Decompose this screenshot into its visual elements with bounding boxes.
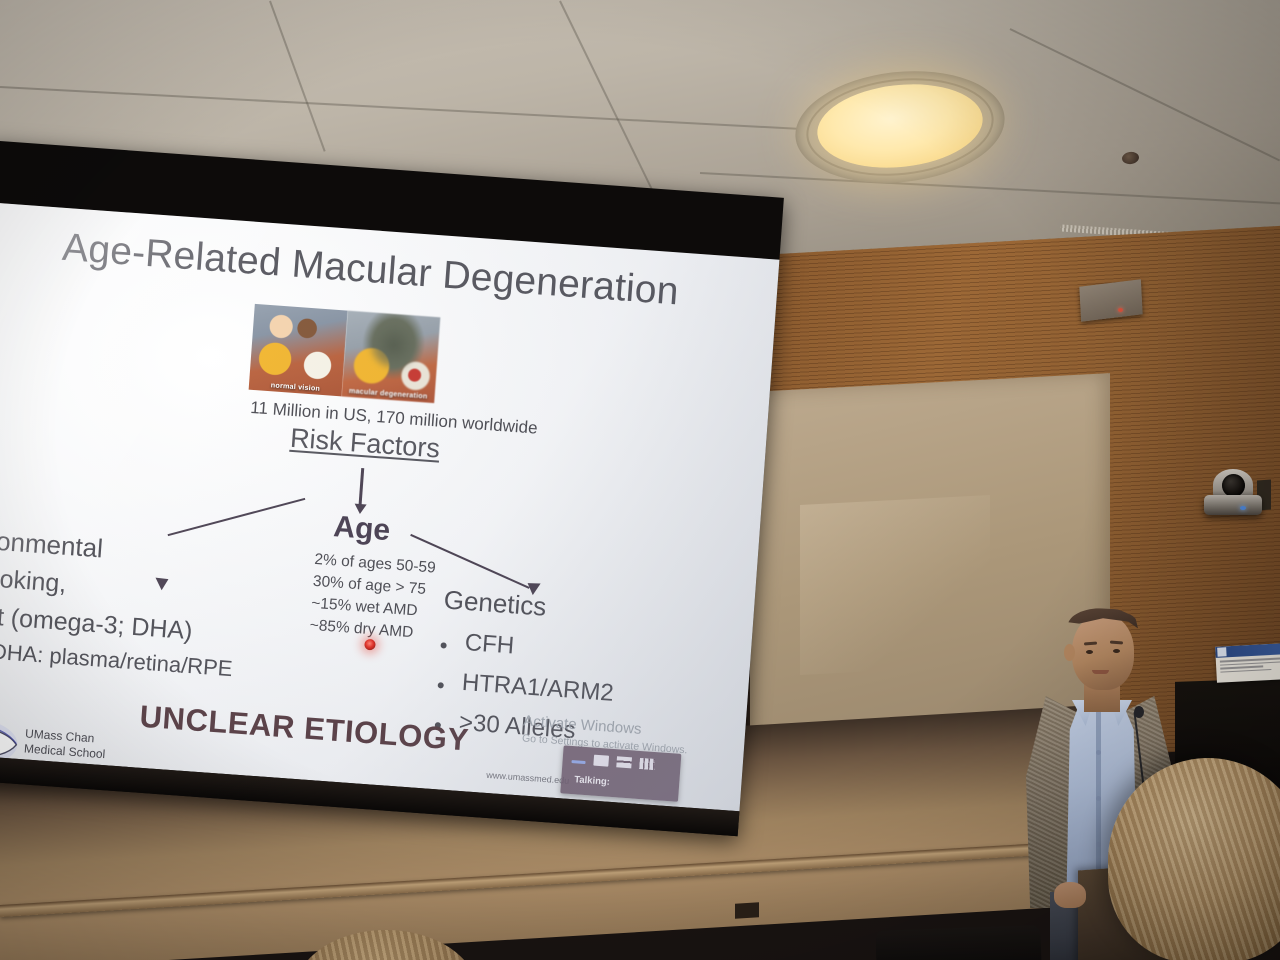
age-node-label: Age	[306, 508, 418, 550]
bullet-label: Diet (omega-3; DHA)	[0, 600, 193, 646]
down-arrow-icon	[358, 468, 363, 506]
presenter-hand	[1054, 882, 1086, 908]
sign-logo-icon	[1217, 647, 1226, 656]
ball-dot-icon	[408, 368, 422, 382]
camera-led-icon	[1240, 506, 1246, 510]
microphone-icon	[1134, 706, 1144, 718]
minimize-icon[interactable]	[571, 760, 585, 764]
camera-lens-icon	[1222, 474, 1245, 497]
bullet-icon	[440, 642, 446, 648]
macular-degeneration-caption: macular degeneration	[342, 385, 435, 401]
laser-pointer-dot	[364, 639, 376, 651]
gallery-view-icon[interactable]	[639, 758, 655, 770]
sign-text-lines	[1216, 654, 1280, 678]
split-view-icon[interactable]	[616, 756, 632, 768]
zoom-view-toolbar[interactable]: Talking:	[560, 745, 681, 801]
genetics-heading: Genetics	[443, 584, 695, 633]
macular-degeneration-photo: macular degeneration	[341, 311, 440, 404]
eye-right	[1113, 649, 1120, 653]
talking-status-label: Talking:	[574, 774, 610, 788]
foreground-chair	[875, 925, 1041, 960]
ptz-conference-camera	[1204, 495, 1262, 515]
bullet-label: CFH	[464, 629, 515, 660]
shirt-button-icon	[1096, 842, 1101, 847]
normal-vision-caption: normal vision	[249, 379, 342, 395]
wall-outlet-icon	[735, 902, 759, 918]
shirt-placket	[1096, 708, 1101, 878]
speaker-led-icon	[1118, 308, 1123, 312]
logo-school-name: UMass Chan Medical School	[23, 726, 106, 763]
speaker-view-icon[interactable]	[593, 755, 609, 767]
presenter-head	[1072, 614, 1134, 690]
shirt-button-icon	[1096, 796, 1101, 801]
left-branch-line	[168, 498, 306, 537]
projection-screen: Age-Related Macular Degeneration normal …	[0, 140, 784, 836]
bullet-icon	[438, 682, 444, 688]
environmental-bullets: Smoking, Diet (omega-3; DHA)	[0, 560, 265, 651]
presentation-slide: Age-Related Macular Degeneration normal …	[0, 202, 779, 811]
ceiling-speaker-box	[1079, 279, 1142, 322]
wall-light-sheen	[800, 495, 990, 675]
normal-vision-photo: normal vision	[249, 304, 348, 397]
slide-footer-url: www.umassmed.edu	[486, 770, 570, 786]
list-item: CFH	[440, 627, 691, 673]
ear	[1064, 644, 1075, 661]
shirt-button-icon	[1096, 750, 1101, 755]
lecture-hall-scene: Age-Related Macular Degeneration normal …	[0, 0, 1280, 960]
bullet-label: Smoking,	[0, 562, 67, 598]
vision-comparison-images: normal vision macular degeneration	[249, 304, 441, 403]
room-information-sign	[1215, 643, 1280, 683]
bullet-label: HTRA1/ARM2	[461, 669, 615, 708]
mouth	[1092, 670, 1109, 674]
environmental-column: Environmental Smoking, Diet (omega-3; DH…	[0, 522, 267, 685]
eye-left	[1086, 650, 1093, 654]
list-item: HTRA1/ARM2	[437, 667, 688, 713]
